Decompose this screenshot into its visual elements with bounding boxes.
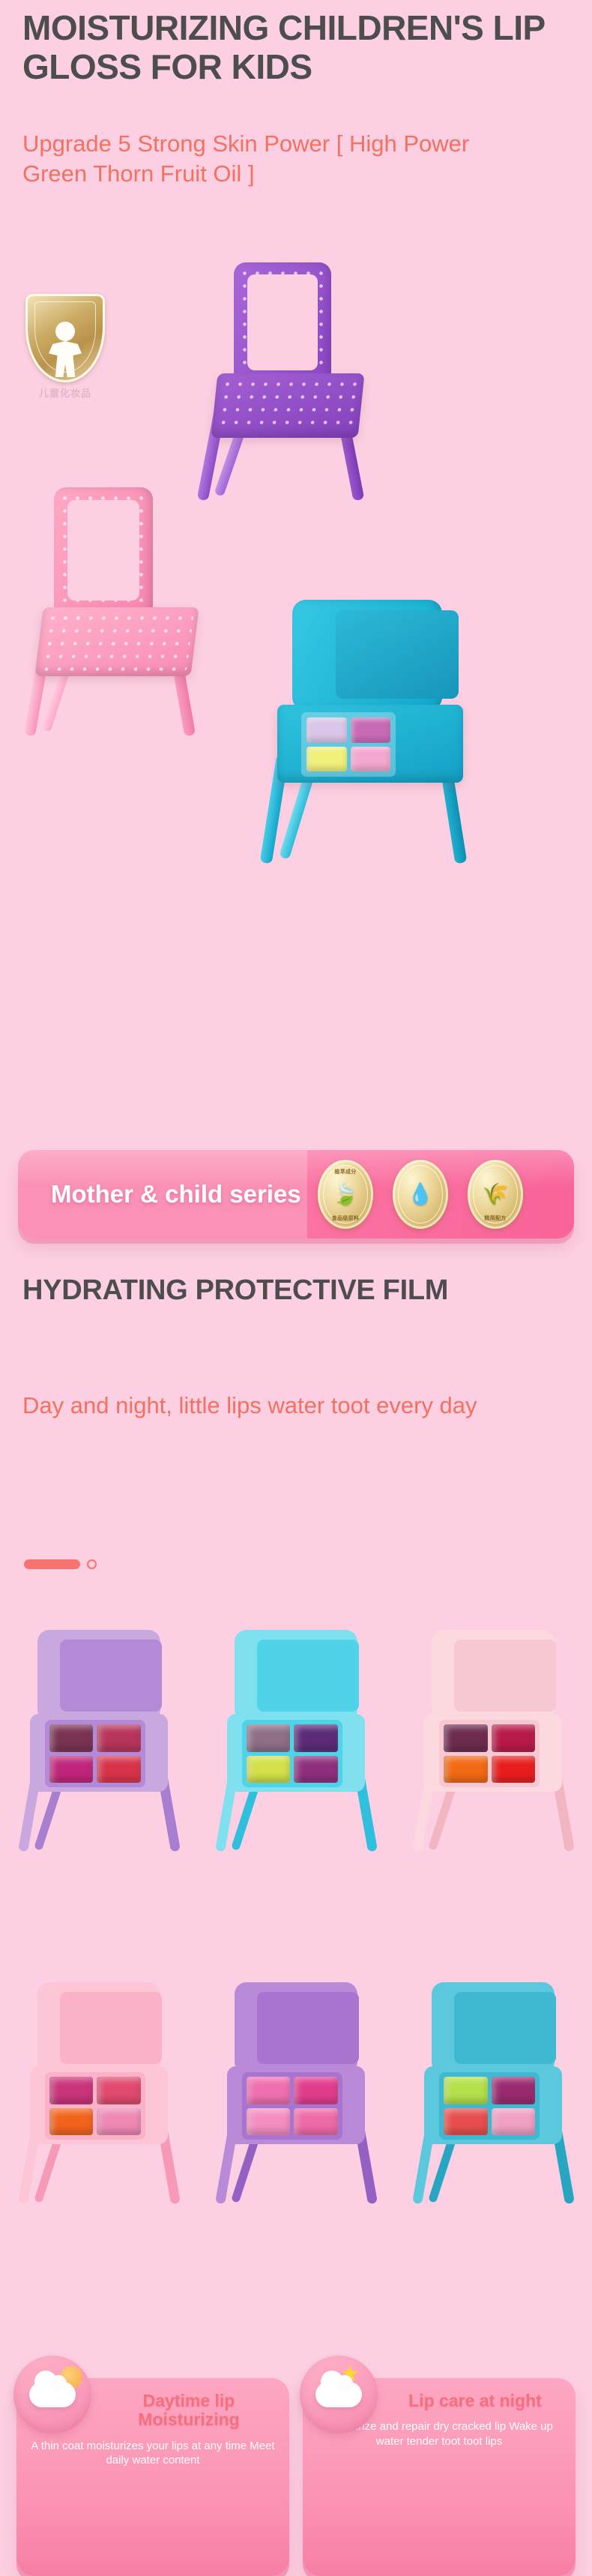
feature-body: A thin coat moisturizes your lips at any… xyxy=(27,2439,279,2468)
palette-lilac xyxy=(25,1630,172,1855)
carousel-pagination[interactable] xyxy=(24,1559,97,1569)
night-care-card[interactable]: ★ Lip care at night Moisturize and repai… xyxy=(303,2378,576,2576)
certification-caption: 儿童化妆品 xyxy=(19,385,111,400)
gallery-item[interactable] xyxy=(0,1604,197,1957)
product-gallery-grid xyxy=(0,1604,592,2309)
daytime-moisturizing-card[interactable]: Daytime lip Moisturizing A thin coat moi… xyxy=(16,2378,289,2576)
gallery-item[interactable] xyxy=(0,1957,197,2309)
section-title-hydrating: HYDRATING PROTECTIVE FILM xyxy=(22,1275,570,1307)
section-subtitle-hydrating: Day and night, little lips water toot ev… xyxy=(22,1391,502,1420)
simple-formula-coin: 🌾 精简配方 xyxy=(468,1160,523,1229)
blue-chair-palette xyxy=(301,712,396,777)
gallery-item[interactable] xyxy=(197,1604,394,1957)
shield-child-icon xyxy=(25,294,105,382)
water-drop-coin: 💧 xyxy=(393,1160,448,1229)
pagination-dot-active[interactable] xyxy=(24,1559,80,1569)
gallery-item[interactable] xyxy=(395,1604,592,1957)
feature-title: Daytime lip Moisturizing xyxy=(99,2392,279,2430)
banner-badge-group: 植萃成分 🍃 食品级原料 💧 🌾 精简配方 xyxy=(318,1160,523,1229)
feature-card-row: Daytime lip Moisturizing A thin coat moi… xyxy=(0,2362,592,2576)
banner-label: Mother & child series xyxy=(18,1181,318,1208)
mother-child-banner: Mother & child series 植萃成分 🍃 食品级原料 💧 🌾 精… xyxy=(18,1150,574,1239)
hero-section: MOISTURIZING CHILDREN'S LIP GLOSS FOR KI… xyxy=(0,0,592,1050)
palette-rose xyxy=(25,1982,172,2207)
page-title: MOISTURIZING CHILDREN'S LIP GLOSS FOR KI… xyxy=(22,9,570,86)
palette-blush xyxy=(420,1630,567,1855)
product-purple-chair xyxy=(187,262,375,502)
star-cloud-icon: ★ xyxy=(300,2356,378,2434)
product-pink-chair xyxy=(28,487,223,735)
palette-violet xyxy=(223,1982,369,2207)
feature-title: Lip care at night xyxy=(385,2392,565,2410)
sun-cloud-icon xyxy=(13,2356,91,2434)
certification-badge: 儿童化妆品 xyxy=(19,294,111,406)
plant-ingredient-coin: 植萃成分 🍃 食品级原料 xyxy=(318,1160,373,1229)
pagination-dot-2[interactable] xyxy=(87,1559,97,1569)
palette-teal xyxy=(420,1982,567,2207)
hero-subtitle: Upgrade 5 Strong Skin Power [ High Power… xyxy=(22,129,517,188)
product-blue-chair xyxy=(262,600,487,870)
gallery-item[interactable] xyxy=(395,1957,592,2309)
palette-aqua xyxy=(223,1630,369,1855)
gallery-item[interactable] xyxy=(197,1957,394,2309)
